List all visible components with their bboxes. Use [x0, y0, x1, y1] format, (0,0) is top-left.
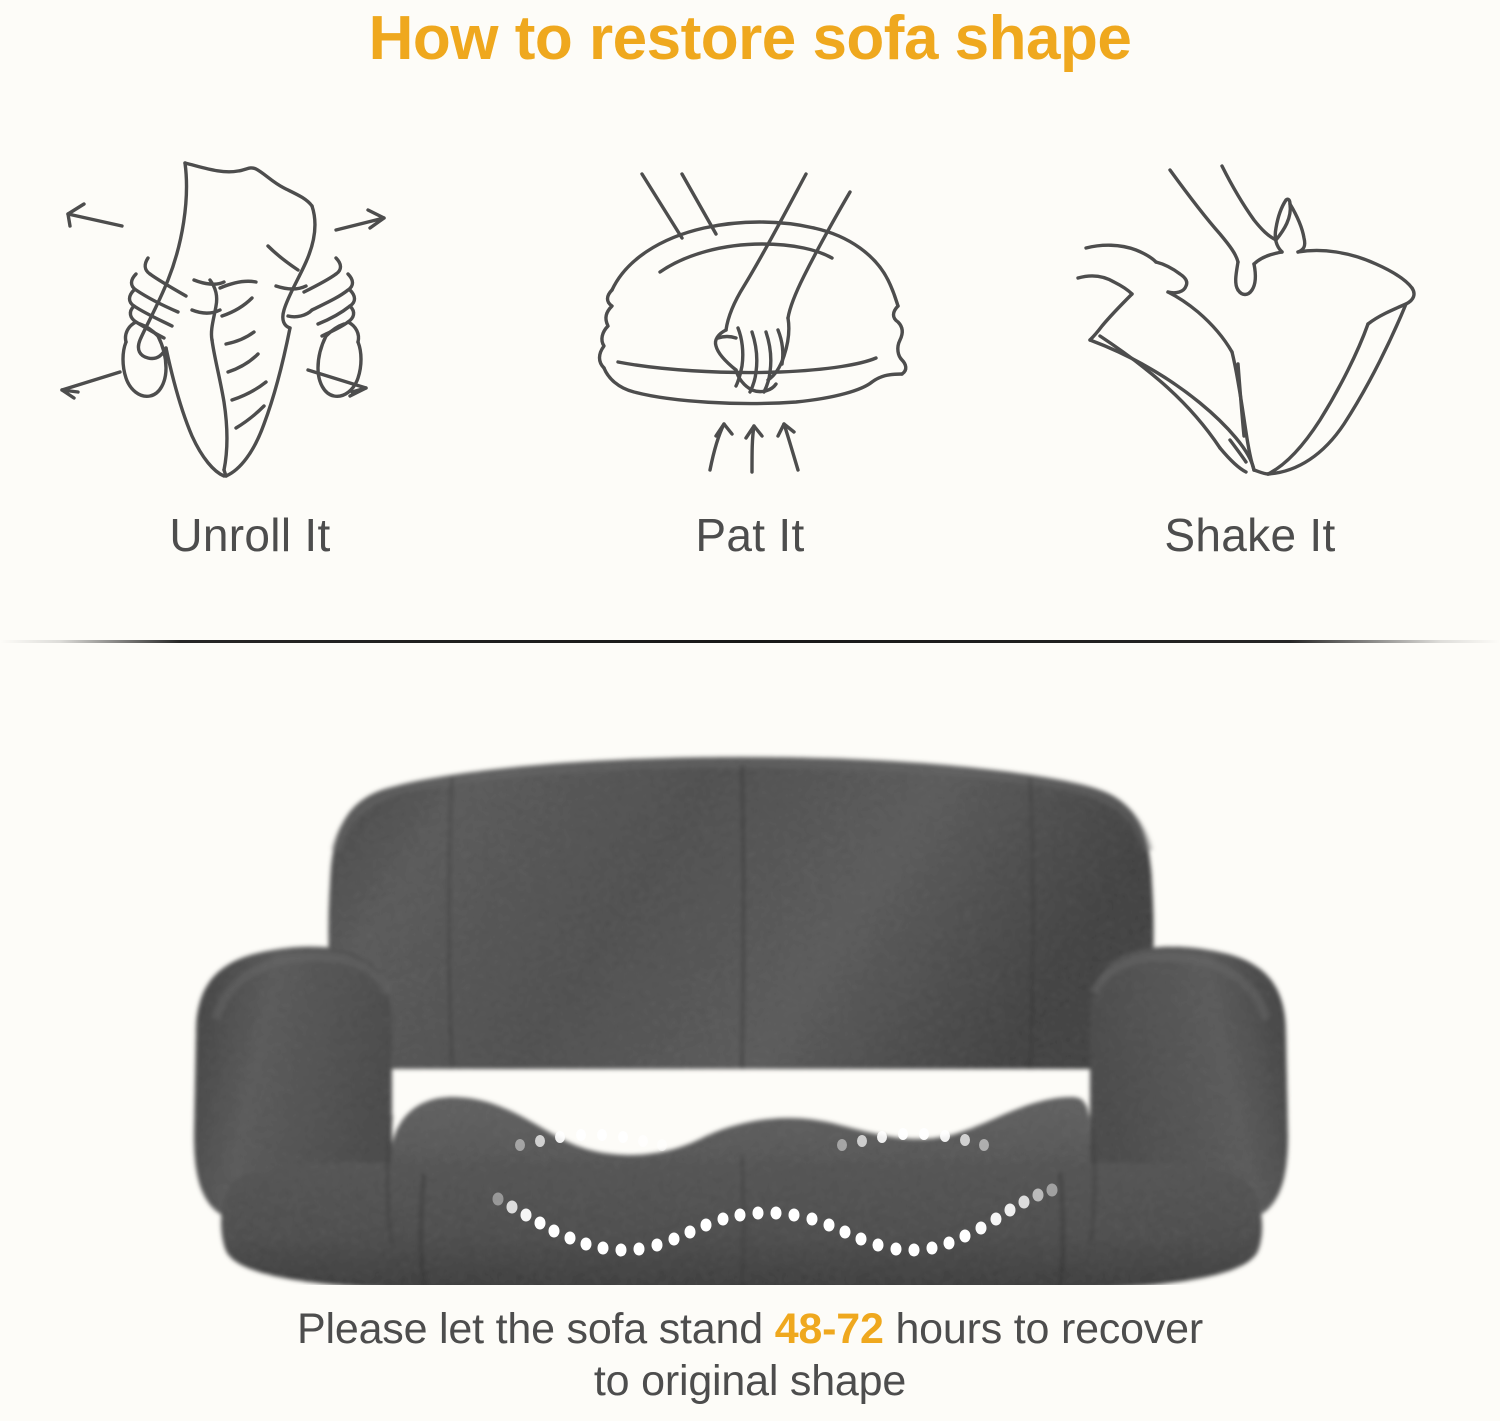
- hands-patting-cushion-icon: [540, 140, 960, 500]
- caption-line-two: to original shape: [0, 1355, 1500, 1407]
- instruction-card: How to restore sofa shape: [0, 0, 1500, 1421]
- hands-shaking-cover-icon: [1040, 140, 1460, 500]
- step-label: Shake It: [1164, 512, 1335, 558]
- page-title: How to restore sofa shape: [0, 6, 1500, 71]
- step-shake-it: Shake It: [1000, 140, 1500, 610]
- step-label: Unroll It: [169, 512, 330, 558]
- steps-row: Unroll It: [0, 140, 1500, 610]
- hands-stretching-fabric-icon: [40, 140, 460, 500]
- step-unroll-it: Unroll It: [0, 140, 500, 610]
- caption-hours-highlight: 48-72: [775, 1305, 884, 1353]
- step-label: Pat It: [695, 512, 804, 558]
- caption-after: hours to recover: [895, 1305, 1203, 1353]
- sofa-product-image: [0, 645, 1500, 1285]
- section-divider: [0, 640, 1500, 643]
- caption-before: Please let the sofa stand: [297, 1305, 763, 1353]
- step-pat-it: Pat It: [500, 140, 1000, 610]
- recovery-time-caption: Please let the sofa stand 48-72 hours to…: [0, 1303, 1500, 1408]
